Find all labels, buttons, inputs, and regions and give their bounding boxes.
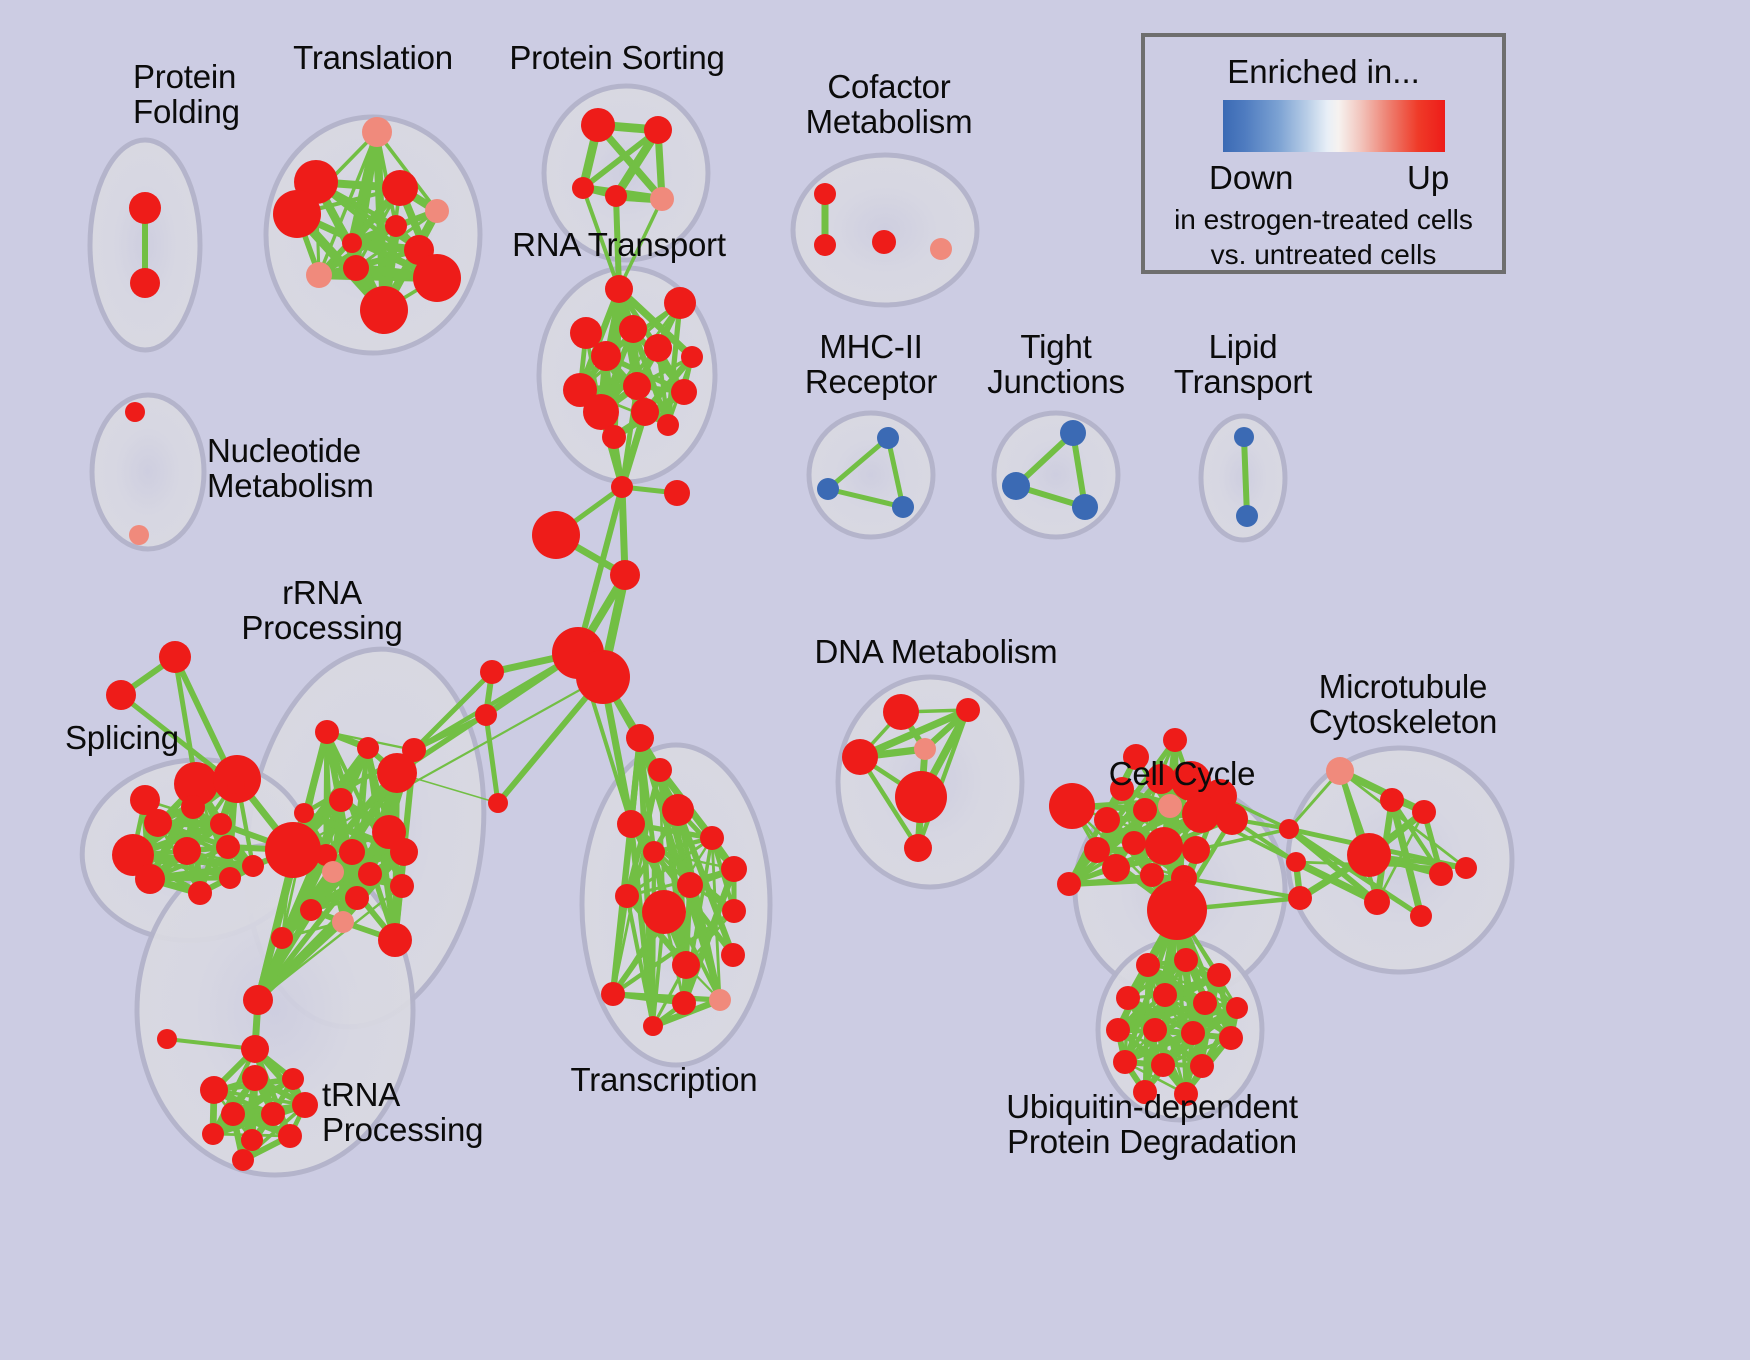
network-node [576,650,630,704]
network-node [339,839,365,865]
network-node [619,315,647,343]
network-node [672,951,700,979]
network-node [1364,889,1390,915]
network-node [1286,852,1306,872]
network-node [1110,777,1134,801]
network-node [1288,886,1312,910]
network-node [1140,863,1164,887]
legend-color-gradient-bar [1223,100,1445,152]
network-node [581,108,615,142]
network-node [1207,963,1231,987]
network-node [282,1068,304,1090]
network-node [480,660,504,684]
network-node [895,771,947,823]
network-node [721,856,747,882]
network-node [601,982,625,1006]
network-node [721,943,745,967]
network-node [664,287,696,319]
network-node [1181,1021,1205,1045]
network-node [626,724,654,752]
legend-high-label: Up [1407,159,1449,197]
legend-low-label: Down [1209,159,1293,197]
network-node [709,989,731,1011]
network-node [1106,1018,1130,1042]
network-node [241,1129,263,1151]
network-node [1174,948,1198,972]
network-node [181,795,205,819]
network-node [572,177,594,199]
network-node [602,425,626,449]
network-node [817,478,839,500]
network-node [265,822,321,878]
network-node [883,694,919,730]
network-node [157,1029,177,1049]
network-node [664,480,690,506]
network-node [672,991,696,1015]
network-node [1158,794,1182,818]
network-node [1002,472,1030,500]
network-node [930,238,952,260]
network-node [642,890,686,934]
network-node [1380,788,1404,812]
network-node [130,268,160,298]
network-node [1236,505,1258,527]
network-node [329,788,353,812]
network-node [1429,862,1453,886]
network-node [657,414,679,436]
network-node [345,886,369,910]
network-node [241,1035,269,1063]
network-node [814,183,836,205]
network-node [1094,807,1120,833]
legend-title: Enriched in... [1145,53,1502,91]
network-node [648,758,672,782]
legend-caption-line-2: vs. untreated cells [1145,238,1502,273]
network-node [644,334,672,362]
network-node [1133,798,1157,822]
network-node [956,698,980,722]
network-node [173,837,201,865]
network-node [362,117,392,147]
network-node [294,803,314,823]
network-node [1116,986,1140,1010]
network-node [904,834,932,862]
network-node [892,496,914,518]
network-node [700,826,724,850]
network-node [242,855,264,877]
network-node [842,739,878,775]
network-node [129,525,149,545]
network-node [243,985,273,1015]
network-node [475,704,497,726]
network-node [227,776,245,794]
network-node [814,234,836,256]
network-node [144,809,172,837]
network-node [914,738,936,760]
legend-caption: in estrogen-treated cells vs. untreated … [1145,203,1502,272]
network-node [271,927,293,949]
network-node [650,187,674,211]
network-node [1123,744,1149,770]
network-node [202,1123,224,1145]
network-node [722,899,746,923]
network-node [261,1102,285,1126]
network-node [129,192,161,224]
network-node [1072,494,1098,520]
network-node [210,813,232,835]
network-node [106,680,136,710]
network-node [1060,420,1086,446]
network-node [631,398,659,426]
legend-panel: Enriched in... Down Up in estrogen-treat… [1141,33,1506,274]
network-node [360,286,408,334]
network-node [306,262,332,288]
network-node [1190,1054,1214,1078]
network-node [532,511,580,559]
network-node [322,861,344,883]
network-node [681,346,703,368]
network-node [1145,827,1183,865]
network-node [232,1149,254,1171]
network-node [1226,997,1248,1019]
network-node [1193,991,1217,1015]
network-node [273,190,321,238]
network-node [390,838,418,866]
network-node [1153,983,1177,1007]
network-node [610,560,640,590]
network-node [643,841,665,863]
network-node [378,923,412,957]
network-node [125,402,145,422]
network-node [617,810,645,838]
network-node [1049,783,1095,829]
network-node [611,476,633,498]
network-node [1182,795,1220,833]
network-node [385,215,407,237]
network-node [1279,819,1299,839]
network-node [1234,427,1254,447]
enrichment-map-figure: Protein FoldingTranslationProtein Sortin… [0,0,1750,1360]
network-node [342,233,362,253]
network-node [382,170,418,206]
network-node [1326,757,1354,785]
cluster-ellipse-cofactor-metabolism [793,155,977,305]
network-node [1412,800,1436,824]
network-node [1057,872,1081,896]
network-node [242,1065,268,1091]
legend-caption-line-1: in estrogen-treated cells [1145,203,1502,238]
network-node [1174,1082,1198,1106]
network-node [1219,1026,1243,1050]
network-node [1182,836,1210,864]
network-node [605,185,627,207]
network-node [877,427,899,449]
network-node [1133,1080,1157,1104]
network-node [623,372,651,400]
network-node [219,867,241,889]
network-node [872,230,896,254]
network-node [135,864,165,894]
cluster-ellipse-mhc-ii-receptor [809,413,933,537]
network-node [188,881,212,905]
network-node [216,835,240,859]
network-node [1113,1050,1137,1074]
network-node [278,1124,302,1148]
network-node [1143,1018,1167,1042]
network-node [677,872,703,898]
network-node [583,394,619,430]
network-edge [1244,437,1247,516]
network-node [292,1092,318,1118]
network-node [357,737,379,759]
network-node [591,341,621,371]
network-node [1347,833,1391,877]
network-node [413,254,461,302]
cluster-ellipse-nucleotide-metabolism [92,395,204,549]
network-node [1147,880,1207,940]
network-node [1122,831,1146,855]
network-node [605,275,633,303]
network-node [343,255,369,281]
network-node [488,793,508,813]
network-node [644,116,672,144]
network-node [1102,854,1130,882]
network-node [1136,953,1160,977]
network-node [377,753,417,793]
network-node [332,911,354,933]
network-node [425,199,449,223]
network-node [200,1076,228,1104]
network-node [1151,1053,1175,1077]
network-node [221,1102,245,1126]
network-node [315,720,339,744]
network-node [1216,803,1248,835]
network-node [1410,905,1432,927]
network-node [643,1016,663,1036]
network-node [390,874,414,898]
network-node [1163,728,1187,752]
network-node [662,794,694,826]
network-node [671,379,697,405]
network-edge [486,715,498,803]
network-node [300,899,322,921]
network-node [159,641,191,673]
network-node [358,862,382,886]
network-node [615,884,639,908]
network-node [1455,857,1477,879]
